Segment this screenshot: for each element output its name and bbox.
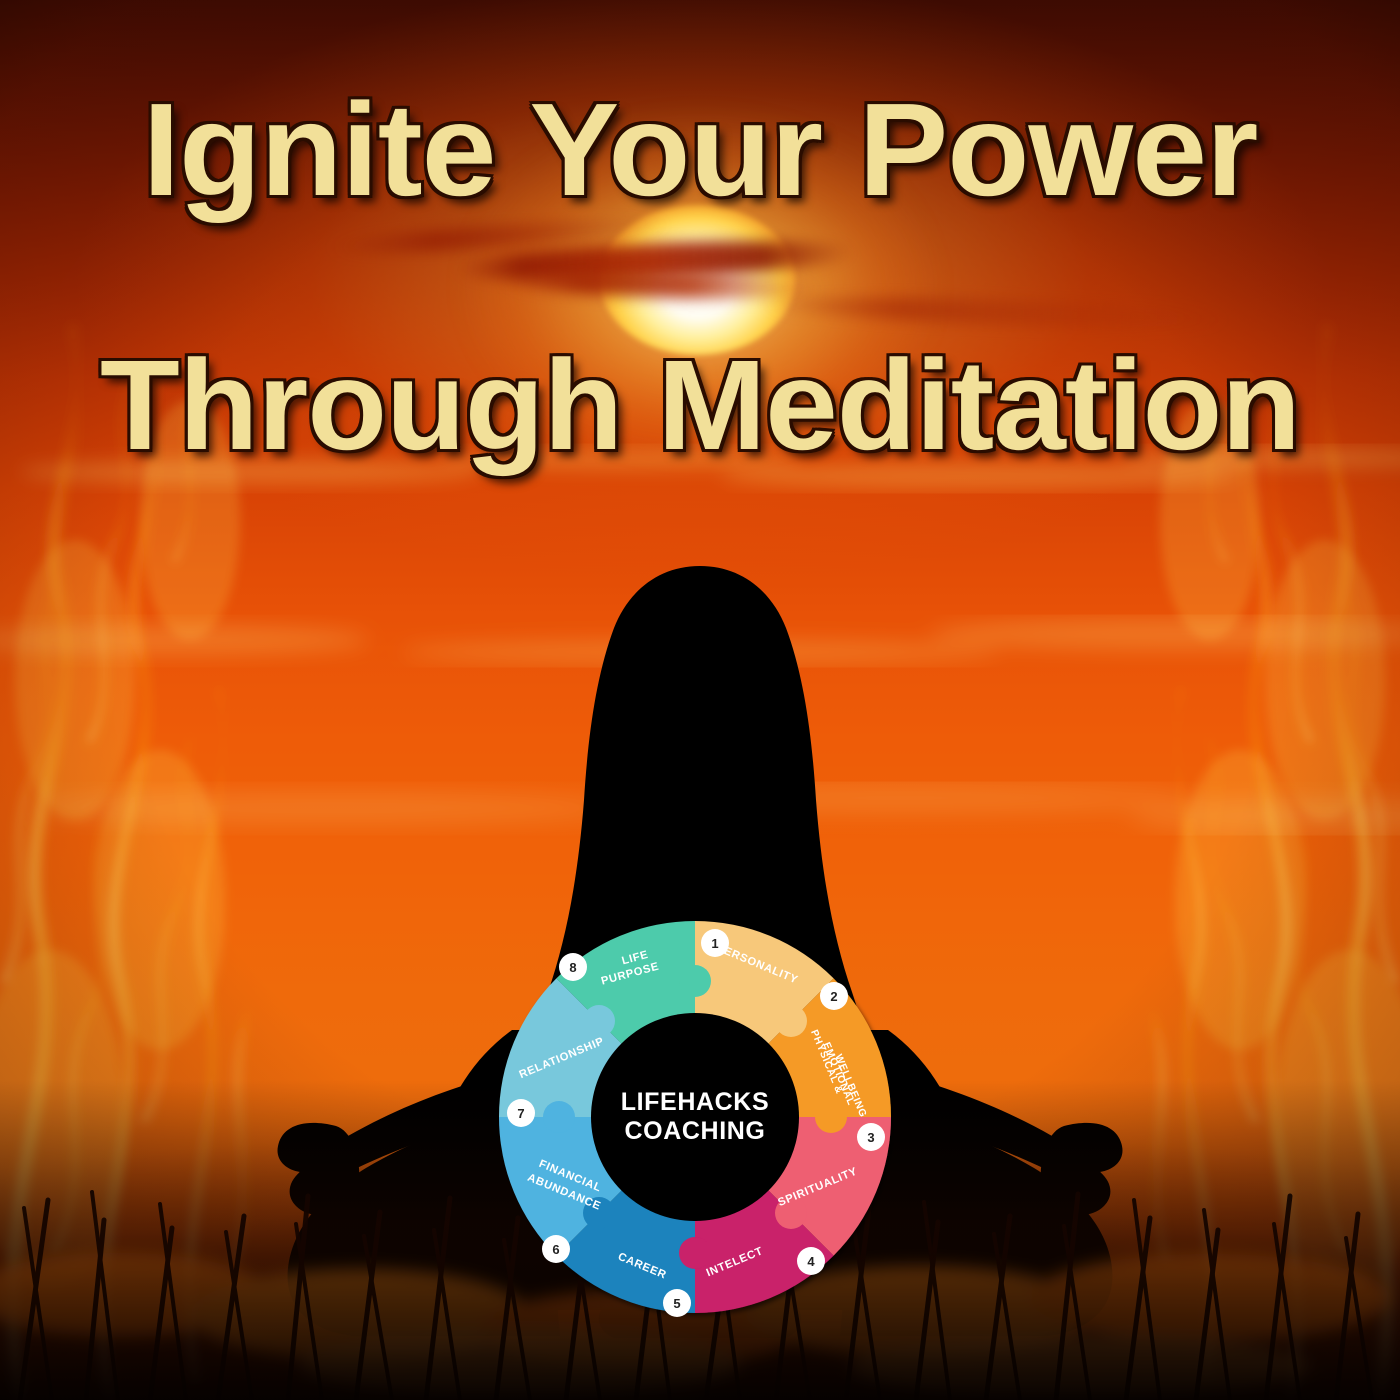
badge-number-3: 3 bbox=[867, 1130, 874, 1145]
badge-number-2: 2 bbox=[830, 989, 837, 1004]
flame-texture-right bbox=[1120, 0, 1400, 1400]
cloud-band-svg bbox=[0, 600, 1400, 680]
badge-number-1: 1 bbox=[711, 936, 718, 951]
badge-number-7: 7 bbox=[517, 1106, 524, 1121]
puzzle-knob bbox=[679, 1237, 711, 1269]
cloud-band-svg bbox=[0, 430, 1400, 500]
sun-icon bbox=[600, 205, 795, 355]
flame-texture-left bbox=[0, 0, 280, 1400]
puzzle-knob bbox=[543, 1101, 575, 1133]
coaching-wheel-svg: LIFEHACKS COACHING PERSONALITY PHYSICAL … bbox=[481, 903, 909, 1331]
cloud-band bbox=[0, 600, 1400, 680]
hub-label-line2: COACHING bbox=[625, 1117, 766, 1145]
cloud-streak bbox=[760, 292, 1231, 332]
badge-number-5: 5 bbox=[673, 1296, 680, 1311]
puzzle-knob bbox=[775, 1005, 807, 1037]
puzzle-knob bbox=[815, 1101, 847, 1133]
puzzle-knob bbox=[583, 1005, 615, 1037]
hub-label-line1: LIFEHACKS bbox=[621, 1088, 769, 1116]
podcast-cover-art: Ignite Your Power Through Meditation bbox=[0, 0, 1400, 1400]
flame-svg bbox=[0, 0, 280, 1400]
flame-svg bbox=[1120, 0, 1400, 1400]
badge-number-4: 4 bbox=[807, 1254, 815, 1269]
badge-number-6: 6 bbox=[552, 1242, 559, 1257]
cloud-band-svg bbox=[0, 760, 1400, 850]
badge-number-8: 8 bbox=[569, 960, 576, 975]
puzzle-knob bbox=[679, 965, 711, 997]
cloud-band bbox=[0, 430, 1400, 500]
title-line-2: Through Meditation bbox=[0, 342, 1400, 470]
cloud-band bbox=[0, 760, 1400, 850]
lifehacks-coaching-wheel[interactable]: LIFEHACKS COACHING PERSONALITY PHYSICAL … bbox=[481, 903, 909, 1331]
title-line-1: Ignite Your Power bbox=[0, 84, 1400, 216]
